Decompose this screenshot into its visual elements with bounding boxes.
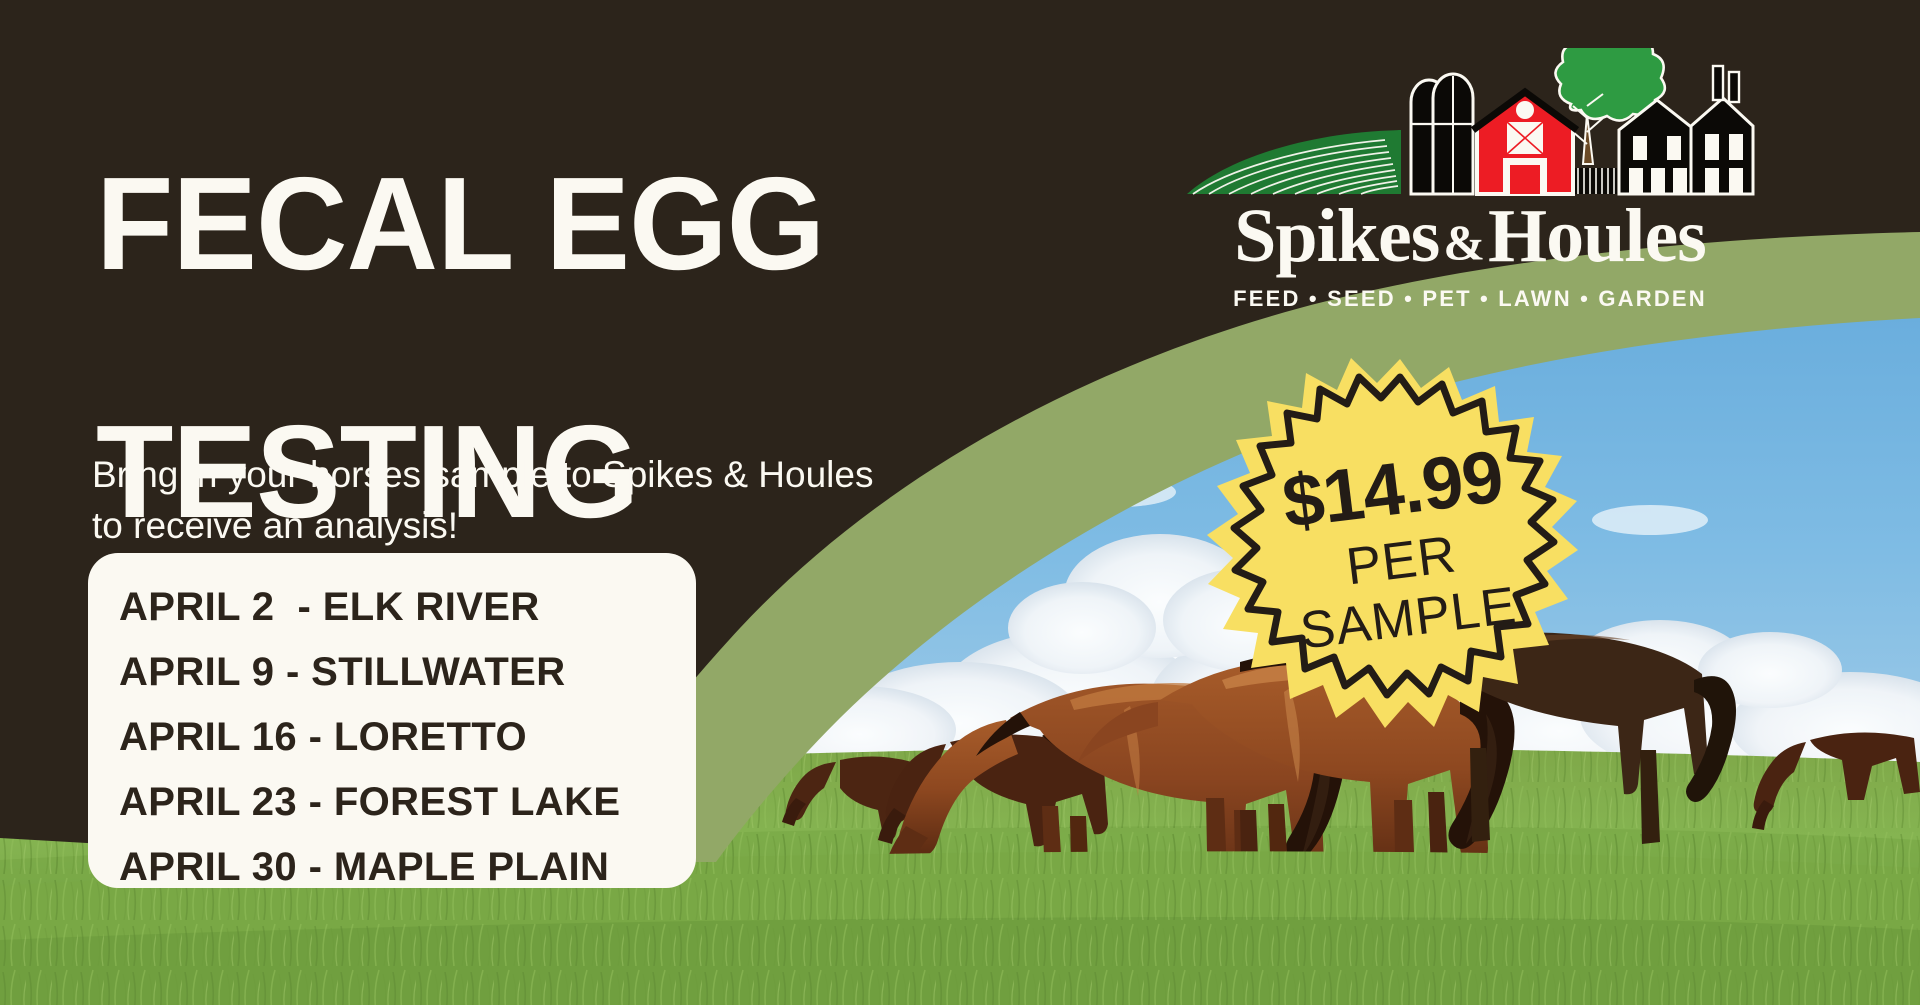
brand-tagline: FEED • SEED • PET • LAWN • GARDEN bbox=[1185, 286, 1755, 312]
dates-card: APRIL 2 - ELK RIVER APRIL 9 - STILLWATER… bbox=[88, 553, 696, 888]
brand-name-part1: Spikes bbox=[1234, 194, 1439, 278]
promo-banner: FECAL EGG TESTING Bring in your horses s… bbox=[0, 0, 1920, 1005]
date-row: APRIL 9 - STILLWATER bbox=[119, 652, 696, 692]
price-badge: $14.99 PER SAMPLE bbox=[1205, 355, 1595, 745]
farm-field-icon bbox=[1187, 130, 1401, 194]
brand-name-part2: Houles bbox=[1488, 194, 1706, 278]
ampersand-icon: & bbox=[1439, 214, 1488, 270]
date-row: APRIL 23 - FOREST LAKE bbox=[119, 782, 696, 822]
farm-scene-icon bbox=[1185, 48, 1755, 208]
date-row: APRIL 30 - MAPLE PLAIN bbox=[119, 847, 696, 887]
brand-wordmark: Spikes&Houles bbox=[1185, 198, 1755, 274]
brand-logo: Spikes&Houles FEED • SEED • PET • LAWN •… bbox=[1185, 48, 1755, 288]
headline-line-1: FECAL EGG bbox=[96, 162, 960, 286]
date-row: APRIL 16 - LORETTO bbox=[119, 717, 696, 757]
subtitle: Bring in your horses sample to Spikes & … bbox=[92, 400, 952, 551]
date-row: APRIL 2 - ELK RIVER bbox=[119, 587, 696, 627]
red-barn-icon bbox=[1473, 92, 1577, 194]
badge-unit-line-2: SAMPLE bbox=[1297, 576, 1519, 660]
subtitle-line-2: to receive an analysis! bbox=[92, 505, 458, 546]
subtitle-line-1: Bring in your horses sample to Spikes & … bbox=[92, 454, 873, 495]
badge-price: $14.99 bbox=[1279, 439, 1507, 539]
silo-icon bbox=[1411, 74, 1473, 194]
